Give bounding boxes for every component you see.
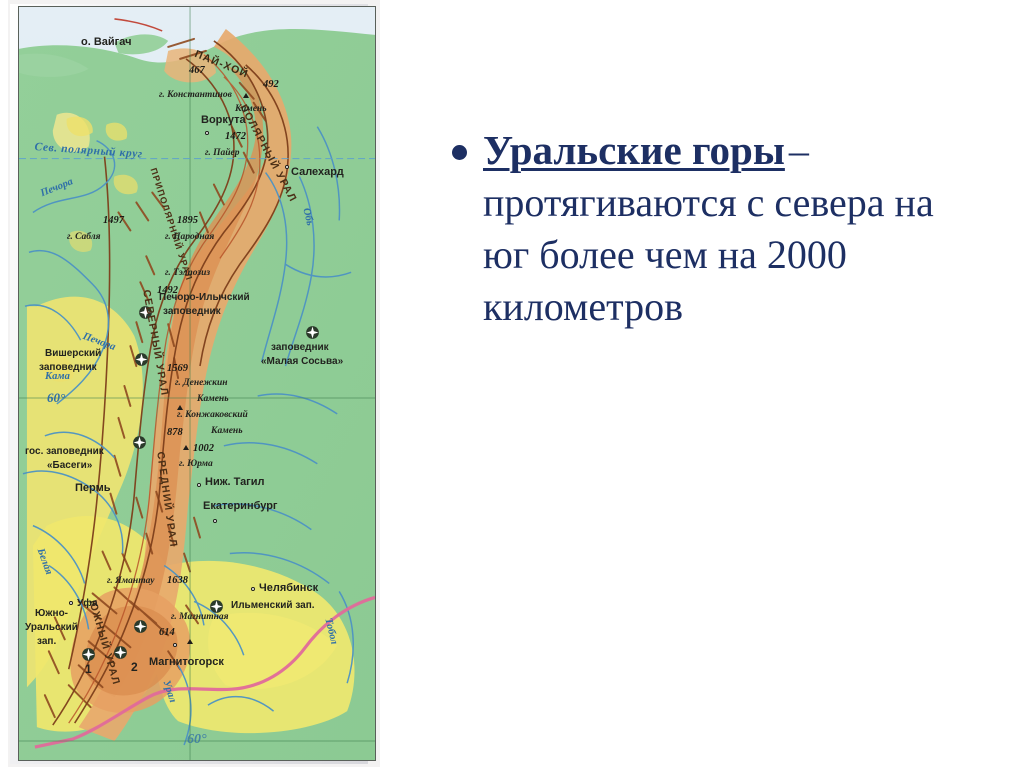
map-elev-1569: 878 [167, 427, 183, 438]
map-river-label-kama: Кама [45, 371, 70, 382]
city-dot-salekhard[interactable] [285, 165, 289, 169]
peak-marker-konstantinov-kamen [243, 93, 249, 98]
bullet-point-icon [452, 145, 467, 160]
city-dot-ekaterinburg[interactable] [213, 519, 217, 523]
map-peak-label-konzhakovsky: г. Конжаковский [177, 411, 248, 421]
map-city-label-vorkuta: Воркута [201, 115, 246, 127]
ural-mountains-physical-map[interactable]: о. Вайгач ПОЛЯРНЫЙ УРАЛ ПРИПОЛЯРНЫЙ УРАЛ… [18, 6, 376, 761]
map-peak-label-narodnaya: г. Народная [165, 233, 214, 243]
map-city-label-perm: Пермь [75, 483, 111, 495]
city-dot-magnitogorsk[interactable] [173, 643, 177, 647]
reserve-star-mark-2[interactable] [113, 645, 128, 660]
reserve-star-basegi[interactable] [132, 435, 147, 450]
map-peak-label-kachkanar: г. Юрма [179, 460, 213, 470]
reserve-star-malaya-sosva[interactable] [305, 325, 320, 340]
map-reserve-label-malaya-sosva-1: заповедник [271, 343, 329, 354]
map-elev-1472: 1472 [225, 131, 246, 142]
map-peak-label-telposiz: г. Тэлпозиз [165, 269, 210, 279]
map-elev-1492: 1569 [167, 363, 188, 374]
map-reserve-label-pechoro-ilychsky-1: Печоро-Илычский [159, 293, 250, 304]
map-peak-label-sablya: г. Сабля [67, 233, 101, 243]
map-city-label-ufa: Уфа [77, 599, 98, 610]
bullet-row: Уральские горы – протягиваются с севера … [452, 125, 982, 333]
map-reserve-label-vishersky-1: Вишерский [45, 349, 101, 360]
map-elev-1895: 1895 [177, 215, 198, 226]
map-peak-label-payer: г. Пайер [205, 149, 240, 159]
map-label-parallel-60-south: 60° [187, 733, 207, 748]
map-city-label-magnitogorsk: Магнитогорск [149, 657, 224, 669]
map-peak-label-konzhakovsky-kamen: Камень [211, 427, 243, 437]
map-reserve-label-yuzhno-uralsky-2: Уральский [25, 623, 78, 634]
map-elev-467: 467 [189, 65, 205, 76]
reserve-star-yuzhno-uralsky[interactable] [133, 619, 148, 634]
bullet-body: Уральские горы – протягиваются с севера … [483, 125, 982, 333]
map-reserve-label-ilmensky: Ильменский зап. [231, 601, 315, 612]
map-peak-label-denezhkin: г. Денежкин [175, 379, 228, 389]
city-dot-vorkuta[interactable] [205, 131, 209, 135]
page-title: Уральские горы [483, 126, 785, 174]
map-elev-878: 1002 [193, 443, 214, 454]
slide-text-block: Уральские горы – протягиваются с севера … [452, 125, 982, 333]
map-elev-492: 492 [263, 79, 279, 90]
map-label-vaygach: о. Вайгач [81, 37, 131, 49]
map-peak-label-denezhkin-kamen: Камень [197, 395, 229, 405]
map-reserve-label-yuzhno-uralsky-3: зап. [37, 637, 56, 648]
map-reserve-label-basegi-2: «Басеги» [47, 461, 92, 472]
map-reserve-label-pechoro-ilychsky-2: заповедник [163, 307, 221, 318]
map-city-label-ekaterinburg: Екатеринбург [203, 501, 278, 513]
map-reserve-label-malaya-sosva-2: «Малая Сосьва» [261, 357, 343, 368]
map-mark-number-1: 1 [85, 663, 92, 676]
reserve-star-mark-1[interactable] [81, 647, 96, 662]
map-reserve-label-basegi-1: гос. заповедник [25, 447, 104, 458]
city-dot-nizhny-tagil[interactable] [197, 483, 201, 487]
map-reserve-label-yuzhno-uralsky-1: Южно- [35, 609, 68, 620]
map-elev-1002: 1638 [167, 575, 188, 586]
map-figure: о. Вайгач ПОЛЯРНЫЙ УРАЛ ПРИПОЛЯРНЫЙ УРАЛ… [8, 0, 380, 767]
peak-marker-magnitnaya [187, 639, 193, 644]
city-dot-ufa[interactable] [69, 601, 73, 605]
city-dot-chelyabinsk[interactable] [251, 587, 255, 591]
map-city-label-salekhard: Салехард [291, 167, 344, 179]
map-peak-label-konstantinov: г. Константинов [159, 91, 232, 101]
map-elev-1497: 1497 [103, 215, 124, 226]
peak-marker-kachkanar [183, 445, 189, 450]
map-label-parallel-60-west: 60° [47, 391, 65, 405]
map-city-label-nizhny-tagil: Ниж. Тагил [205, 477, 265, 489]
map-mark-number-2: 2 [131, 661, 138, 674]
map-elev-1638: 614 [159, 627, 175, 638]
map-city-label-chelyabinsk: Челябинск [259, 583, 318, 595]
map-peak-label-yurma: г. Ямантау [107, 577, 154, 587]
map-peak-label-yamantau: г. Магнитная [171, 613, 229, 623]
reserve-star-vishersky[interactable] [134, 352, 149, 367]
slide-root: о. Вайгач ПОЛЯРНЫЙ УРАЛ ПРИПОЛЯРНЫЙ УРАЛ… [0, 0, 1024, 767]
